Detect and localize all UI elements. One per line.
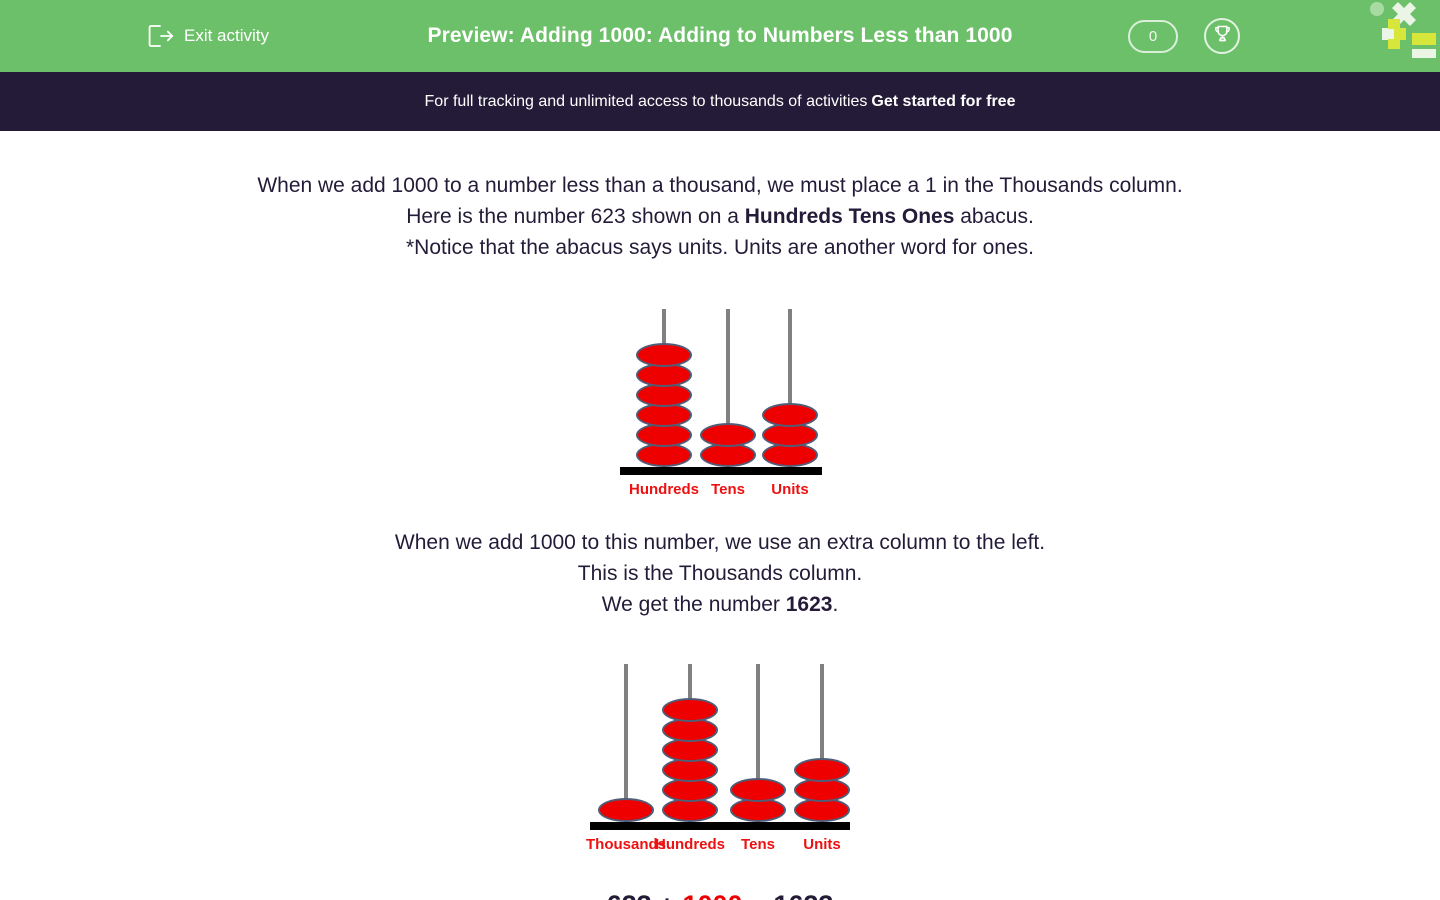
abacus-623: HundredsTensUnits [600,301,840,501]
abacus-column-label: Hundreds [629,481,699,498]
intro-line-2-before: Here is the number 623 shown on a [406,205,745,228]
exit-activity-button[interactable]: Exit activity [148,24,269,48]
intro-line-2-after: abacus. [954,205,1033,228]
equation-result: 1623 [773,890,833,900]
equation-line: 623 + 1000 = 1623 [0,890,1440,900]
abacus-1623-wrapper: ThousandsHundredsTensUnits [0,656,1440,856]
abacus-1623: ThousandsHundredsTensUnits [570,656,870,856]
score-badge[interactable]: 0 [1128,20,1178,53]
abacus-column-label: Units [771,481,809,498]
intro-line-3: *Notice that the abacus says units. Unit… [0,232,1440,263]
decorative-shapes [1360,0,1440,60]
middle-line-3-before: We get the number [602,593,786,616]
abacus-bead[interactable] [662,698,718,722]
exit-activity-label: Exit activity [184,26,269,46]
abacus-column-label: Tens [741,836,775,853]
activity-content: When we add 1000 to a number less than a… [0,131,1440,900]
intro-paragraph: When we add 1000 to a number less than a… [0,170,1440,263]
header-actions: 0 [1128,18,1240,54]
abacus-bead[interactable] [700,423,756,447]
abacus-bead[interactable] [794,758,850,782]
abacus-base [620,467,822,475]
intro-line-1: When we add 1000 to a number less than a… [0,170,1440,201]
middle-line-2: This is the Thousands column. [0,558,1440,589]
abacus-column-label: Units [803,836,841,853]
abacus-bead[interactable] [598,798,654,822]
abacus-base [590,822,850,830]
middle-line-1: When we add 1000 to this number, we use … [0,527,1440,558]
score-value: 0 [1149,28,1157,45]
promo-banner: For full tracking and unlimited access t… [0,72,1440,131]
abacus-623-wrapper: HundredsTensUnits [0,301,1440,501]
middle-paragraph: When we add 1000 to this number, we use … [0,527,1440,620]
equation-left: 623 [607,890,652,900]
abacus-bead[interactable] [730,778,786,802]
abacus-column-label: Tens [711,481,745,498]
middle-line-3: We get the number 1623. [0,589,1440,620]
trophy-icon [1212,23,1233,49]
intro-line-2: Here is the number 623 shown on a Hundre… [0,201,1440,232]
middle-line-3-bold: 1623 [786,593,833,616]
app-header: Exit activity Preview: Adding 1000: Addi… [0,0,1440,72]
middle-line-3-after: . [832,593,838,616]
abacus-column-label: Hundreds [655,836,725,853]
equation-equals: = [743,890,774,900]
promo-text: For full tracking and unlimited access t… [425,93,868,111]
abacus-bead[interactable] [762,403,818,427]
equation-addend: 1000 [682,890,742,900]
trophy-button[interactable] [1204,18,1240,54]
equation-plus: + [652,890,683,900]
promo-cta-link[interactable]: Get started for free [871,93,1015,111]
abacus-bead[interactable] [636,343,692,367]
intro-line-2-bold: Hundreds Tens Ones [745,205,955,228]
exit-door-arrow-icon [148,24,174,48]
